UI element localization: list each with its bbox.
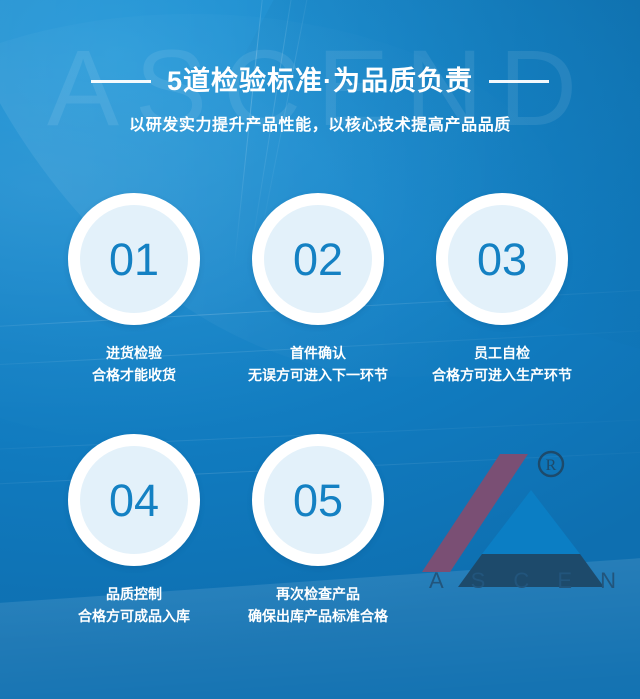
- step-caption-line2-05: 确保出库产品标准合格: [248, 606, 388, 628]
- title-row: 5道检验标准·为品质负责: [0, 66, 640, 97]
- page-title: 5道检验标准·为品质负责: [167, 66, 473, 97]
- logo-wordmark: A S C E N D: [418, 568, 623, 594]
- step-caption-05: 再次检查产品 确保出库产品标准合格: [248, 584, 388, 627]
- step-badge-05: 05: [252, 434, 384, 566]
- step-number-03: 03: [477, 237, 527, 282]
- step-item-03[interactable]: 03 员工自检 合格方可进入生产环节: [410, 193, 594, 386]
- step-badge-03: 03: [436, 193, 568, 325]
- poster-canvas: ASCEND 5道检验标准·为品质负责 以研发实力提升产品性能，以核心技术提高产…: [0, 0, 640, 699]
- step-caption-line1-01: 进货检验: [92, 343, 176, 365]
- step-number-05: 05: [293, 478, 343, 523]
- step-badge-02: 02: [252, 193, 384, 325]
- step-caption-line2-03: 合格方可进入生产环节: [432, 365, 572, 387]
- step-caption-line1-04: 品质控制: [78, 584, 190, 606]
- step-caption-03: 员工自检 合格方可进入生产环节: [432, 343, 572, 386]
- step-number-02: 02: [293, 237, 343, 282]
- step-item-05[interactable]: 05 再次检查产品 确保出库产品标准合格: [226, 434, 410, 627]
- page-subtitle: 以研发实力提升产品性能，以核心技术提高产品品质: [0, 111, 640, 135]
- step-caption-02: 首件确认 无误方可进入下一环节: [248, 343, 388, 386]
- step-caption-line1-05: 再次检查产品: [248, 584, 388, 606]
- step-badge-inner-05: 05: [264, 446, 372, 554]
- step-caption-line1-03: 员工自检: [432, 343, 572, 365]
- step-item-01[interactable]: 01 进货检验 合格才能收货: [42, 193, 226, 386]
- step-number-01: 01: [109, 237, 159, 282]
- step-badge-inner-03: 03: [448, 205, 556, 313]
- title-dash-left: [91, 80, 151, 83]
- step-badge-01: 01: [68, 193, 200, 325]
- step-caption-line2-04: 合格方可成品入库: [78, 606, 190, 628]
- step-item-04[interactable]: 04 品质控制 合格方可成品入库: [42, 434, 226, 627]
- step-caption-line1-02: 首件确认: [248, 343, 388, 365]
- step-caption-line2-02: 无误方可进入下一环节: [248, 365, 388, 387]
- header: 5道检验标准·为品质负责 以研发实力提升产品性能，以核心技术提高产品品质: [0, 66, 640, 135]
- step-badge-04: 04: [68, 434, 200, 566]
- step-badge-inner-01: 01: [80, 205, 188, 313]
- step-caption-line2-01: 合格才能收货: [92, 365, 176, 387]
- title-dash-right: [489, 80, 549, 83]
- registered-mark-letter: R: [546, 457, 557, 474]
- step-caption-04: 品质控制 合格方可成品入库: [78, 584, 190, 627]
- step-number-04: 04: [109, 478, 159, 523]
- step-badge-inner-04: 04: [80, 446, 188, 554]
- step-badge-inner-02: 02: [264, 205, 372, 313]
- steps-row-1: 01 进货检验 合格才能收货 02 首件确认 无误方可进入下一环节: [0, 193, 640, 386]
- step-caption-01: 进货检验 合格才能收货: [92, 343, 176, 386]
- step-item-02[interactable]: 02 首件确认 无误方可进入下一环节: [226, 193, 410, 386]
